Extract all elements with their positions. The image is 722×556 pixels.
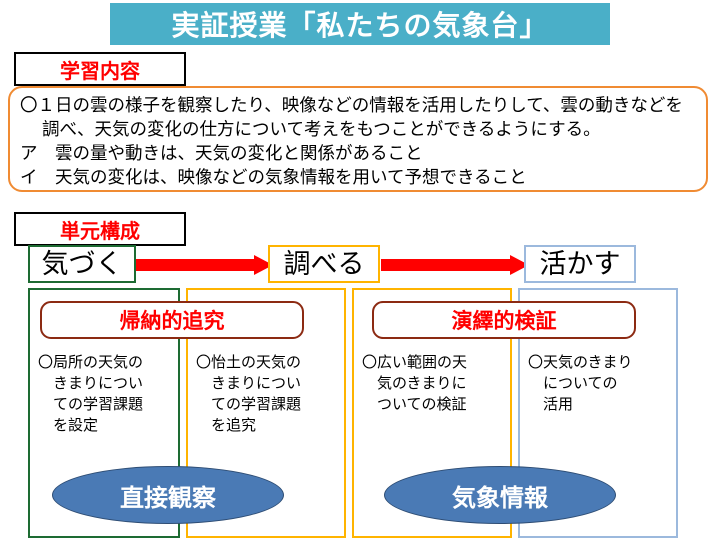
column-3-body: 〇広い範囲の天 気のきまりに ついての検証 [354, 352, 510, 415]
learning-content-line-2: 調べ、天気の変化の仕方について考えをもつことができるようにする。 [20, 117, 696, 141]
method-ellipse-weather-information: 気象情報 [384, 466, 616, 524]
phase-box-apply: 活かす [524, 245, 636, 283]
learning-content-line-1: 〇１日の雲の様子を観察したり、映像などの情報を活用したりして、雲の動きなどを [20, 93, 696, 117]
phase-label-apply: 活かす [540, 251, 621, 278]
arrow-shaft [131, 259, 255, 271]
learning-content-line-4: イ 天気の変化は、映像などの気象情報を用いて予想できること [20, 165, 696, 189]
section-label-learning-content-text: 学習内容 [60, 55, 140, 84]
phase-box-investigate: 調べる [268, 245, 380, 283]
method-ellipse-direct-observation-text: 直接観察 [120, 478, 216, 513]
phase-box-notice: 気づく [28, 245, 136, 283]
column-3-line-3: ついての検証 [362, 394, 504, 415]
inquiry-label-inductive-text: 帰納的追究 [120, 305, 225, 335]
arrow-shaft [381, 259, 511, 271]
column-1-line-4: を設定 [38, 415, 172, 436]
section-label-unit-structure-text: 単元構成 [60, 215, 140, 244]
column-1-line-2: きまりについ [38, 373, 172, 394]
inquiry-label-deductive-text: 演繹的検証 [452, 305, 557, 335]
inquiry-label-deductive: 演繹的検証 [372, 301, 636, 339]
learning-content-line-3: ア 雲の量や動きは、天気の変化と関係があること [20, 141, 696, 165]
column-2-body: 〇怡土の天気の きまりについ ての学習課題 を追究 [188, 352, 344, 436]
flow-arrow-right-icon-1 [131, 255, 273, 275]
column-4-line-3: 活用 [528, 394, 670, 415]
column-4-body: 〇天気のきまり についての 活用 [520, 352, 676, 415]
column-2-line-4: を追究 [196, 415, 338, 436]
column-3-line-1: 〇広い範囲の天 [362, 352, 504, 373]
phase-label-notice: 気づく [42, 251, 123, 278]
column-2-line-1: 〇怡土の天気の [196, 352, 338, 373]
learning-content-box: 〇１日の雲の様子を観察したり、映像などの情報を活用したりして、雲の動きなどを 調… [8, 86, 708, 192]
column-4-line-2: についての [528, 373, 670, 394]
column-2-line-2: きまりについ [196, 373, 338, 394]
column-2-line-3: ての学習課題 [196, 394, 338, 415]
column-3-line-2: 気のきまりに [362, 373, 504, 394]
phase-label-investigate: 調べる [284, 251, 365, 278]
column-4-line-1: 〇天気のきまり [528, 352, 670, 373]
column-1-line-3: ての学習課題 [38, 394, 172, 415]
flow-arrow-right-icon-2 [381, 255, 529, 275]
column-1-line-1: 〇局所の天気の [38, 352, 172, 373]
section-label-unit-structure: 単元構成 [14, 212, 186, 246]
inquiry-label-inductive: 帰納的追究 [40, 301, 304, 339]
slide-canvas: 実証授業「私たちの気象台」 学習内容 〇１日の雲の様子を観察したり、映像などの情… [0, 0, 722, 556]
slide-title-text: 実証授業「私たちの気象台」 [171, 4, 548, 44]
slide-title-bar: 実証授業「私たちの気象台」 [110, 3, 610, 45]
method-ellipse-direct-observation: 直接観察 [52, 466, 284, 524]
section-label-learning-content: 学習内容 [14, 52, 186, 86]
column-1-body: 〇局所の天気の きまりについ ての学習課題 を設定 [30, 352, 178, 436]
method-ellipse-weather-information-text: 気象情報 [452, 478, 548, 513]
